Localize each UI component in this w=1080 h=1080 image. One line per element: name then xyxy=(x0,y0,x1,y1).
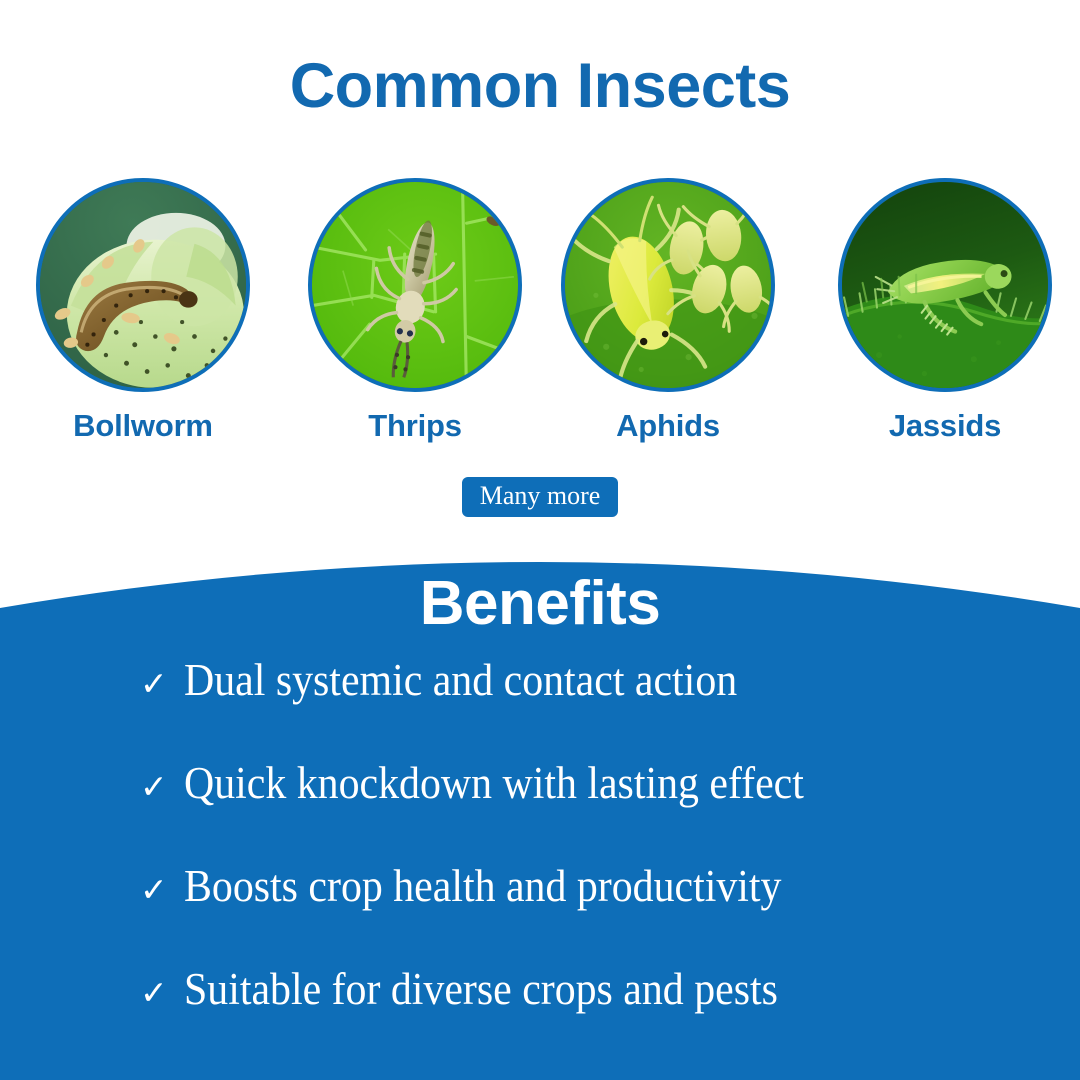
check-icon: ✓ xyxy=(140,873,168,906)
benefit-text: Suitable for diverse crops and pests xyxy=(184,964,778,1016)
benefits-panel: Benefits ✓ Dual systemic and contact act… xyxy=(0,520,1080,1080)
jassids-photo xyxy=(838,178,1052,392)
benefit-text: Boosts crop health and productivity xyxy=(184,861,781,913)
insect-label-aphids: Aphids xyxy=(560,408,776,444)
insect-card-jassids[interactable]: Jassids xyxy=(837,178,1053,444)
benefit-item: ✓ Quick knockdown with lasting effect xyxy=(0,758,1080,861)
benefit-item: ✓ Boosts crop health and productivity xyxy=(0,861,1080,964)
benefit-text: Quick knockdown with lasting effect xyxy=(184,758,804,810)
benefits-title: Benefits xyxy=(0,570,1080,638)
insect-label-jassids: Jassids xyxy=(837,408,1053,444)
benefit-text: Dual systemic and contact action xyxy=(184,655,737,707)
aphids-photo xyxy=(561,178,775,392)
insect-card-aphids[interactable]: Aphids xyxy=(560,178,776,444)
bollworm-photo xyxy=(36,178,250,392)
check-icon: ✓ xyxy=(140,667,168,700)
page-title: Common Insects xyxy=(0,52,1080,121)
insect-label-thrips: Thrips xyxy=(307,408,523,444)
many-more-container: Many more xyxy=(0,477,1080,517)
check-icon: ✓ xyxy=(140,976,168,1009)
benefits-list: ✓ Dual systemic and contact action ✓ Qui… xyxy=(0,655,1080,1067)
insect-card-bollworm[interactable]: Bollworm xyxy=(35,178,251,444)
many-more-badge[interactable]: Many more xyxy=(462,477,619,517)
benefit-item: ✓ Suitable for diverse crops and pests xyxy=(0,964,1080,1067)
insect-label-bollworm: Bollworm xyxy=(35,408,251,444)
insect-card-thrips[interactable]: Thrips xyxy=(307,178,523,444)
thrips-photo xyxy=(308,178,522,392)
check-icon: ✓ xyxy=(140,770,168,803)
insect-gallery: Bollworm xyxy=(0,178,1080,448)
benefit-item: ✓ Dual systemic and contact action xyxy=(0,655,1080,758)
benefits-content: Benefits ✓ Dual systemic and contact act… xyxy=(0,520,1080,1080)
poster-root: Common Insects xyxy=(0,0,1080,1080)
